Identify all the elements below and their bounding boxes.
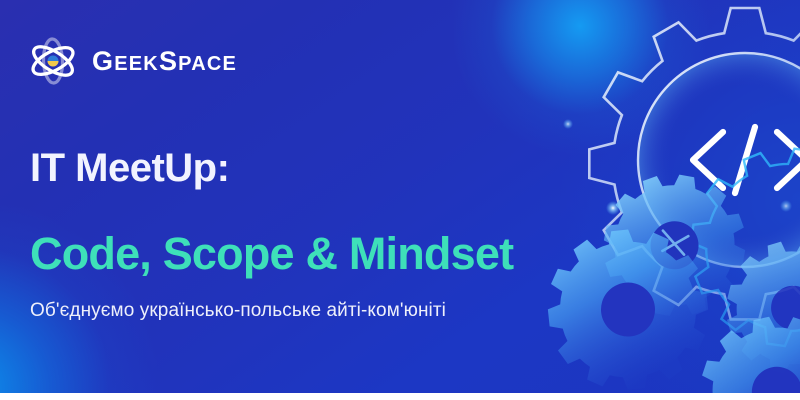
gear-filled-icon: [593, 164, 756, 327]
brand-name-g: G: [92, 46, 114, 76]
brand-name-pace: PACE: [178, 53, 237, 75]
brand-name-eek: EEK: [114, 53, 159, 75]
brand-logo[interactable]: GEEKSPACE: [28, 36, 237, 86]
brand-name-s: S: [159, 46, 178, 76]
gear-filled-icon: [713, 228, 800, 388]
headline-line-2: Code, Scope & Mindset: [30, 231, 513, 276]
event-banner: GEEKSPACE IT MeetUp: Code, Scope & Minds…: [0, 0, 800, 393]
atom-icon: [28, 36, 78, 86]
gear-filled-icon: [688, 303, 800, 393]
gear-outline-icon: [679, 136, 800, 358]
banner-subtitle: Об'єднуємо українсько-польське айті-ком'…: [30, 299, 446, 323]
brand-name: GEEKSPACE: [92, 48, 237, 75]
gear-outline-icon: [589, 8, 800, 319]
sparkle-icon: [563, 119, 573, 129]
sparkle-icon: [780, 200, 792, 212]
code-circle: [638, 53, 800, 267]
sparkle-icon: [606, 201, 620, 215]
headline-line-1: IT MeetUp:: [30, 148, 229, 188]
gear-filled-icon: [540, 222, 715, 393]
code-symbol-icon: [693, 127, 800, 193]
